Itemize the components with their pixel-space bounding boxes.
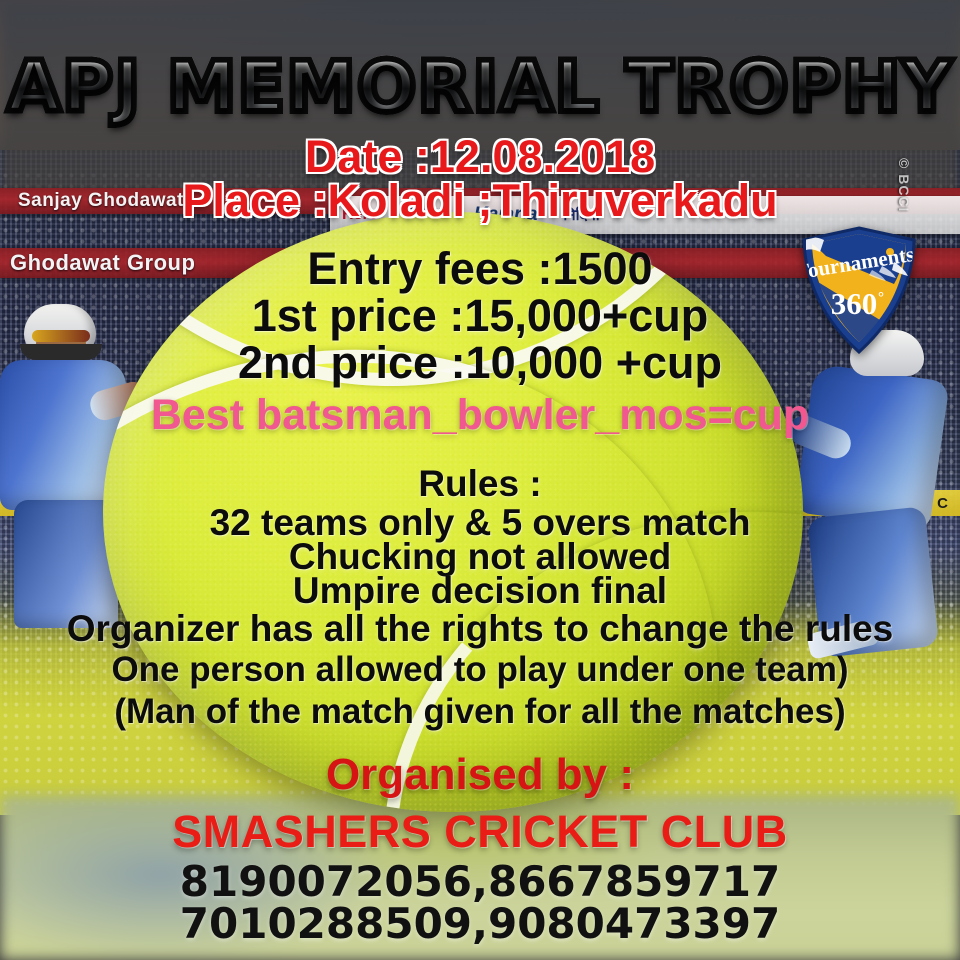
rules-heading: Rules : <box>0 463 960 505</box>
tournaments-360-shield-logo-icon: Tournaments 360 ° <box>798 226 920 354</box>
organiser-club-name: SMASHERS CRICKET CLUB <box>0 806 960 858</box>
poster-canvas: Sanjay Ghodawat Ghodawat Group Hero BSNL… <box>0 0 960 960</box>
bcci-copyright-watermark: © BCCI <box>896 158 912 212</box>
rule-item: Organizer has all the rights to change t… <box>0 608 960 650</box>
best-player-awards-line: Best batsman_bowler_mos=cup <box>0 391 960 440</box>
organised-by-label: Organised by : <box>0 750 960 800</box>
rule-item: (Man of the match given for all the matc… <box>0 692 960 732</box>
rule-item: Umpire decision final <box>0 570 960 612</box>
contact-phone-line-2: 7010288509,9080473397 <box>0 899 960 948</box>
rule-item: One person allowed to play under one tea… <box>0 650 960 690</box>
logo-word-360: 360 <box>831 286 878 321</box>
poster-title: APJ MEMORIAL TROPHY <box>0 46 960 128</box>
event-place-line: Place :Koladi ;Thiruverkadu <box>0 175 960 227</box>
logo-degree-symbol: ° <box>878 290 884 306</box>
